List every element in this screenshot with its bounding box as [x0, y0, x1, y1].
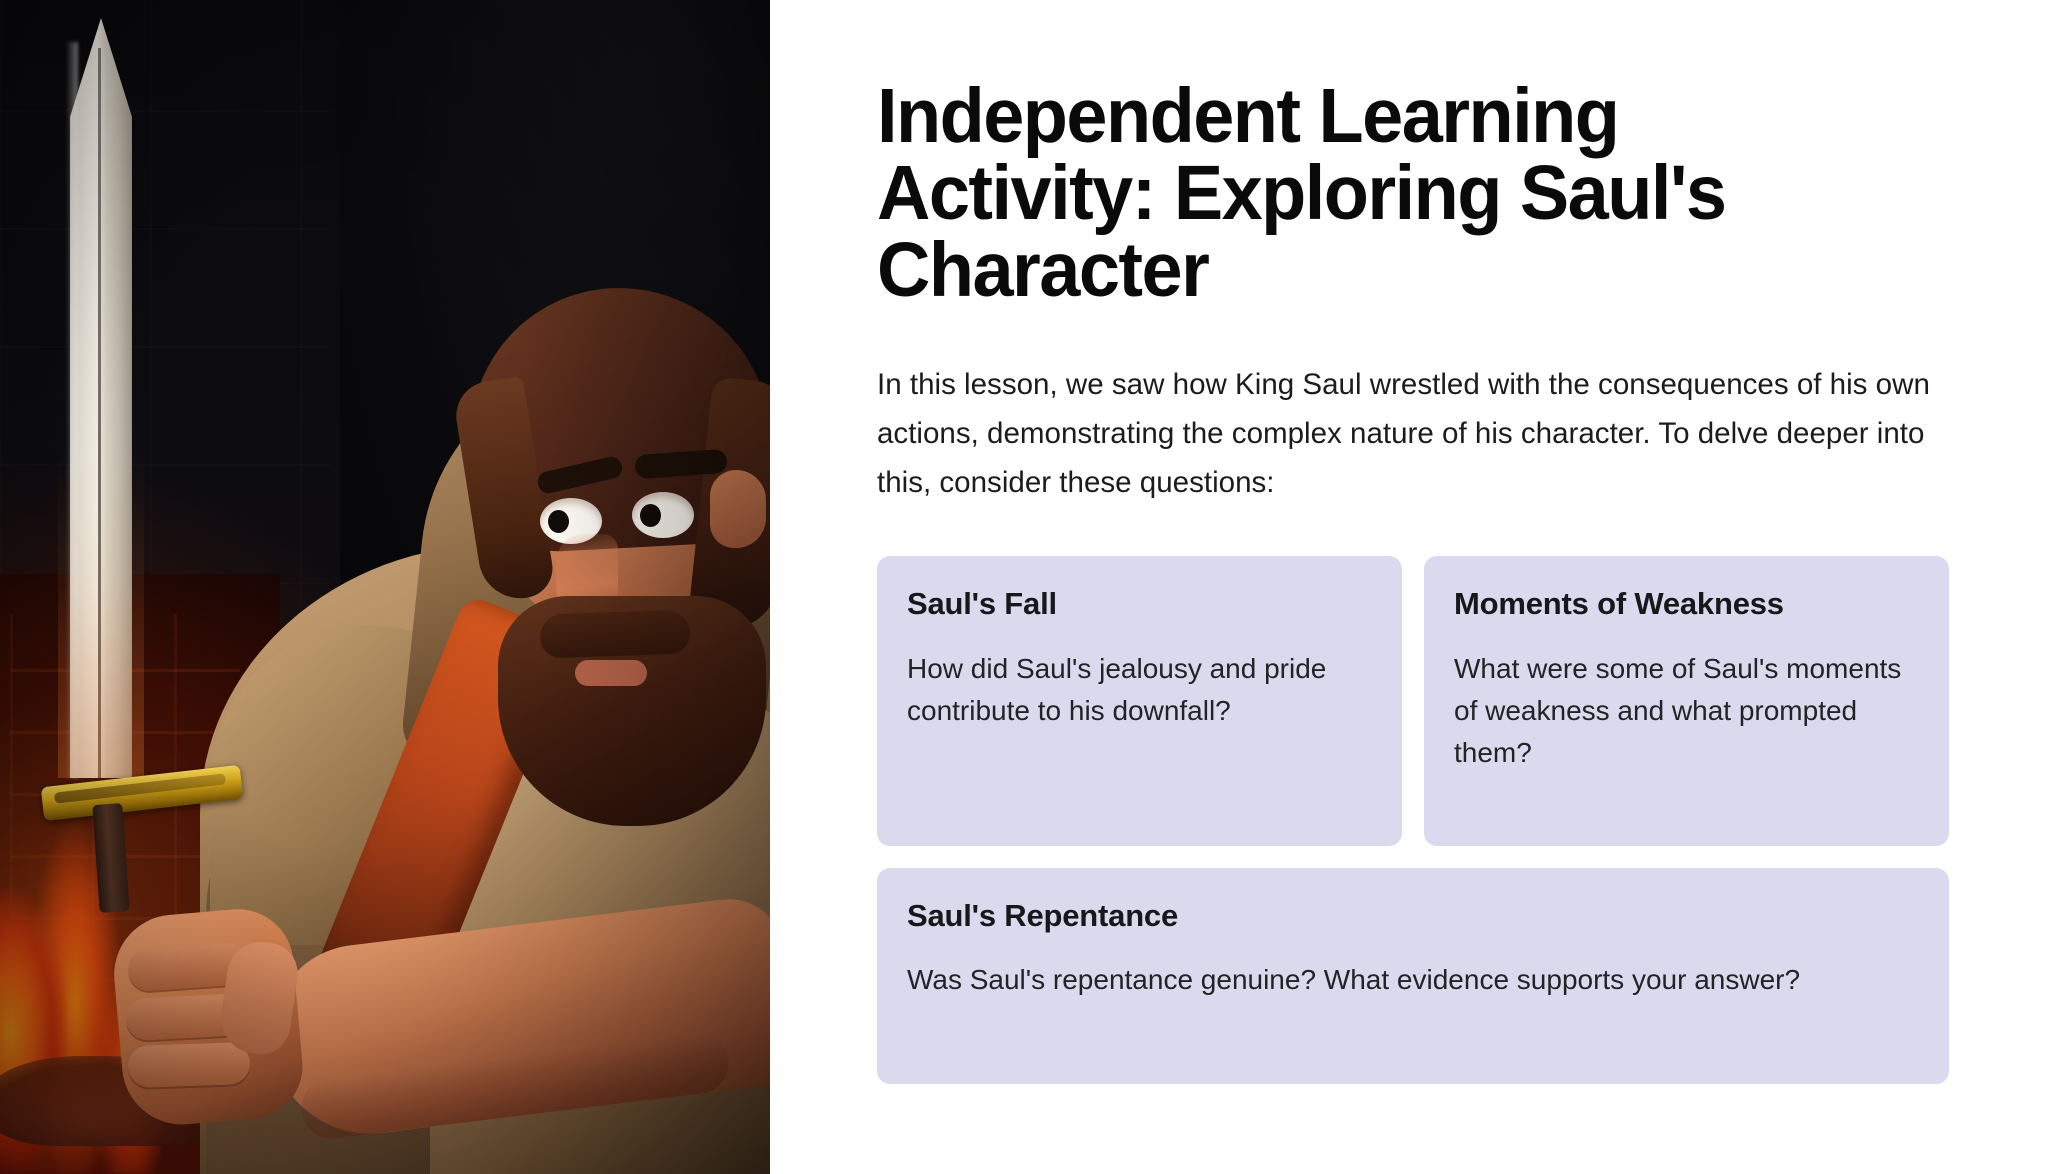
- question-card-title: Moments of Weakness: [1454, 586, 1919, 622]
- pupil-right: [640, 504, 661, 527]
- question-card-sauls-fall[interactable]: Saul's Fall How did Saul's jealousy and …: [877, 556, 1402, 846]
- sword-grip: [92, 803, 129, 913]
- saul-illustration: [0, 0, 770, 1174]
- question-card-body: Was Saul's repentance genuine? What evid…: [907, 960, 1919, 999]
- lower-lip: [575, 660, 647, 686]
- question-card-moments-of-weakness[interactable]: Moments of Weakness What were some of Sa…: [1424, 556, 1949, 846]
- question-card-list: Saul's Fall How did Saul's jealousy and …: [877, 556, 1949, 1084]
- intro-paragraph: In this lesson, we saw how King Saul wre…: [877, 361, 1933, 508]
- question-card-body: How did Saul's jealousy and pride contri…: [907, 648, 1372, 732]
- pupil-left: [548, 510, 569, 533]
- question-card-body: What were some of Saul's moments of weak…: [1454, 648, 1919, 774]
- question-card-title: Saul's Fall: [907, 586, 1372, 622]
- ear: [710, 470, 766, 548]
- slide-root: Independent Learning Activity: Exploring…: [0, 0, 2048, 1174]
- sword-icon: [40, 18, 200, 898]
- question-card-title: Saul's Repentance: [907, 898, 1919, 934]
- lesson-content-panel: Independent Learning Activity: Exploring…: [770, 0, 2048, 1174]
- question-card-sauls-repentance[interactable]: Saul's Repentance Was Saul's repentance …: [877, 868, 1949, 1084]
- sword-blade-firelight: [58, 448, 144, 778]
- moustache: [539, 609, 690, 658]
- finger-ring: [127, 1042, 250, 1088]
- page-title: Independent Learning Activity: Exploring…: [877, 78, 1741, 309]
